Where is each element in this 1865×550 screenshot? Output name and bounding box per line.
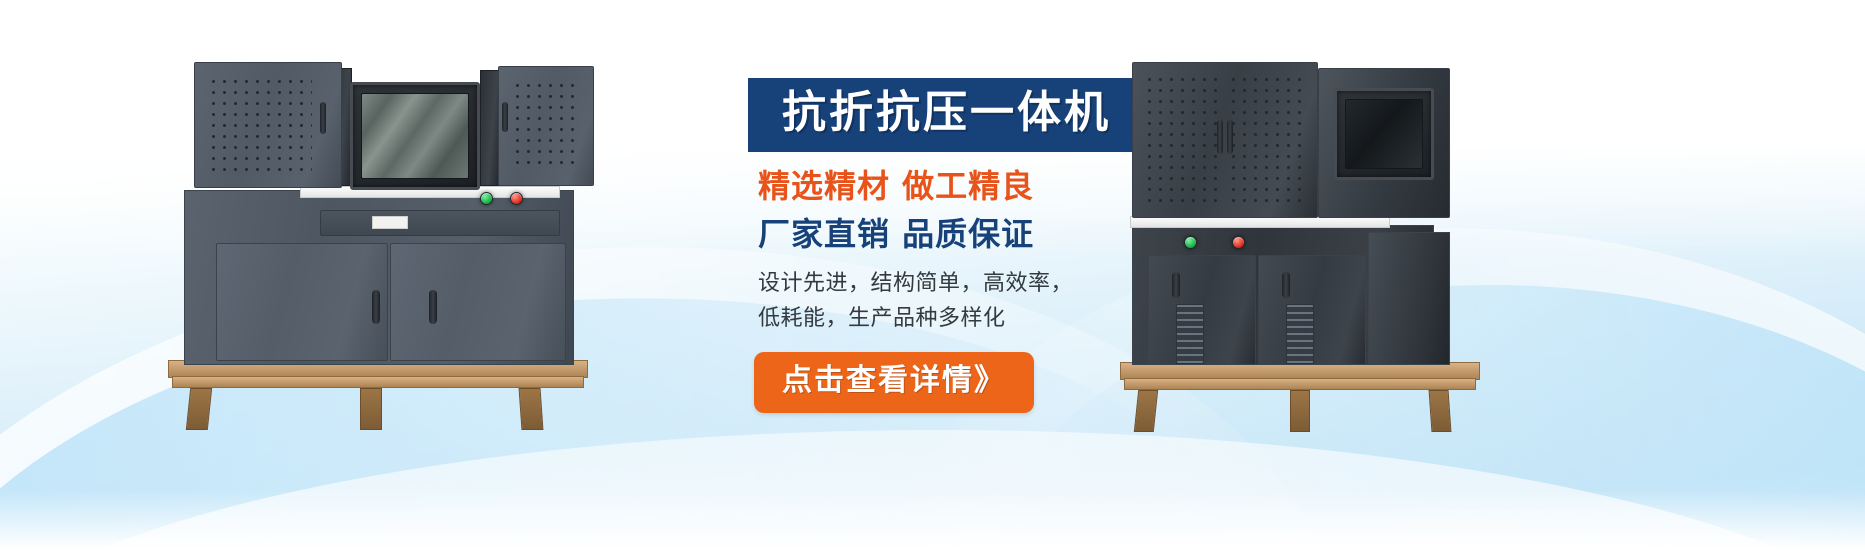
upper-cabinet-side-right-of-left <box>480 70 500 186</box>
green-indicator-light-right <box>1184 236 1197 249</box>
pallet-leg-left <box>186 388 212 430</box>
red-indicator-light-right <box>1232 236 1245 249</box>
pallet-leg-left-right <box>1134 390 1158 432</box>
product-image-right <box>1100 40 1500 440</box>
door-handle-left-2 <box>429 290 437 324</box>
door-handle-right-1 <box>1172 272 1180 298</box>
upper-door-handle-right-2 <box>1227 120 1233 154</box>
machine-base-extension-right <box>1368 232 1450 365</box>
green-indicator-light-left <box>480 192 493 205</box>
drawer-label-left <box>372 216 408 229</box>
pallet-leg-mid-right <box>1290 390 1310 432</box>
upper-door-handle-right-of-left <box>502 102 508 132</box>
red-indicator-light-left <box>510 192 523 205</box>
perforated-panel-left <box>208 76 312 174</box>
product-promo-banner: 抗折抗压一体机 精选精材 做工精良 厂家直销 品质保证 设计先进，结构简单，高效… <box>0 0 1865 550</box>
perforated-panel-right-2 <box>1228 74 1306 202</box>
cabinet-door-left-1 <box>216 243 388 361</box>
monitor-left <box>350 82 480 190</box>
pallet-slat-mid <box>172 376 584 388</box>
door-handle-left-1 <box>372 290 380 324</box>
louver-vent-right-2 <box>1286 304 1314 364</box>
page-title: 抗折抗压一体机 <box>782 87 1111 139</box>
pallet-leg-mid <box>360 388 382 430</box>
title-banner: 抗折抗压一体机 <box>748 78 1145 152</box>
upper-door-handle-right-1 <box>1217 120 1223 154</box>
pallet-leg-right <box>519 388 544 430</box>
product-image-left <box>150 40 600 440</box>
pallet-slat-mid-right <box>1124 378 1476 390</box>
view-details-button-label: 点击查看详情》 <box>782 363 1006 398</box>
background-bottom-fade <box>0 490 1865 550</box>
view-details-button[interactable]: 点击查看详情》 <box>754 352 1034 413</box>
door-handle-right-2 <box>1282 272 1290 298</box>
upper-door-handle-left <box>320 102 326 134</box>
perforated-panel-right-of-left <box>512 80 578 172</box>
monitor-screen-left <box>361 93 469 179</box>
cabinet-door-left-2 <box>390 243 566 361</box>
perforated-panel-right-1 <box>1144 74 1222 202</box>
louver-vent-right-1 <box>1176 304 1204 364</box>
monitor-screen-right <box>1345 99 1423 169</box>
pallet-leg-right-right <box>1429 390 1452 432</box>
drawer-panel-left <box>320 210 560 236</box>
monitor-right <box>1334 88 1434 180</box>
